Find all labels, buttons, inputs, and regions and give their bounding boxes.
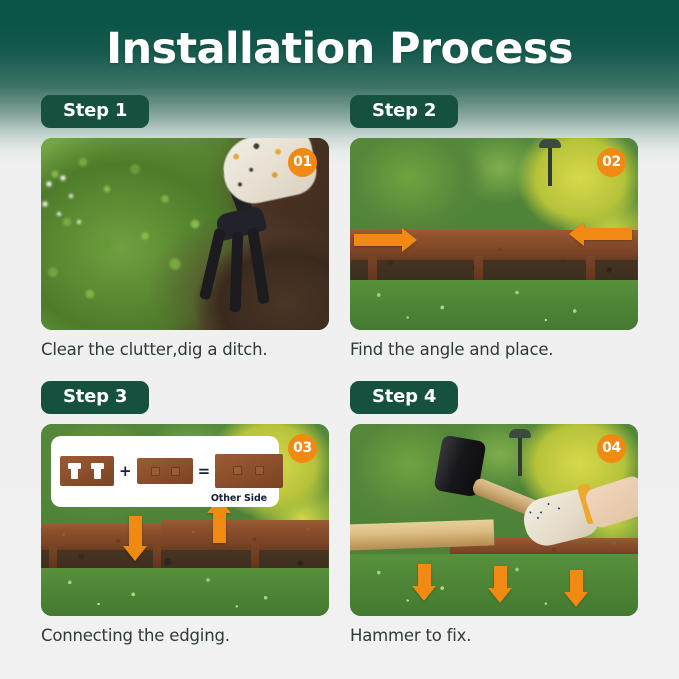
steps-grid: Step 1 01 Clear the clutter,dig a <box>41 95 639 645</box>
connection-diagram: + = Other Side <box>51 436 279 507</box>
arrow-down-icon <box>123 516 147 561</box>
steps-row-2: Step 3 <box>41 381 639 645</box>
garden-lamp-icon <box>518 436 522 476</box>
step-photo-1: 01 <box>41 138 329 330</box>
step-badge-1: Step 1 <box>41 95 149 128</box>
arrow-left-icon <box>569 224 632 244</box>
steps-row-1: Step 1 01 Clear the clutter,dig a <box>41 95 639 359</box>
diagram-equals-symbol: = <box>198 462 211 480</box>
step-caption-1: Clear the clutter,dig a ditch. <box>41 340 329 359</box>
other-side-label: Other Side <box>211 493 267 504</box>
step-number-badge-3: 03 <box>288 434 317 463</box>
step-number-badge-2: 02 <box>597 148 626 177</box>
diagram-panel-tabs <box>137 458 193 484</box>
diagram-plus-symbol: + <box>119 462 132 480</box>
diagram-panel-joined <box>215 454 283 488</box>
diagram-joined-tab-left <box>233 466 242 475</box>
installation-process-page: Installation Process Step 1 <box>0 0 679 679</box>
diagram-tab-right <box>171 467 180 476</box>
grass-band <box>41 568 329 616</box>
cultivator-tine-right <box>247 227 270 304</box>
step-card-3: Step 3 <box>41 381 329 645</box>
edging-panel-right <box>161 520 329 550</box>
cultivator-tine-left <box>199 227 226 300</box>
step-badge-4: Step 4 <box>350 381 458 414</box>
arrow-down-icon-2 <box>488 566 512 603</box>
step-photo-3: + = Other Side 03 <box>41 424 329 616</box>
white-flowers <box>41 174 99 244</box>
page-title: Installation Process <box>0 24 679 74</box>
step-photo-2: 02 <box>350 138 638 330</box>
arrow-right-icon <box>354 230 417 250</box>
step-photo-4: 04 <box>350 424 638 616</box>
step-card-4: Step 4 <box>350 381 638 645</box>
diagram-panel-slots <box>60 456 114 486</box>
cultivator-tine-middle <box>230 232 244 312</box>
diagram-tab-left <box>151 467 160 476</box>
diagram-slot-left <box>71 463 78 479</box>
hand-cultivator-icon <box>191 184 287 314</box>
diagram-slot-right <box>94 463 101 479</box>
diagram-joined-tab-right <box>255 466 264 475</box>
step-badge-2: Step 2 <box>350 95 458 128</box>
grass-band <box>350 280 638 330</box>
garden-lamp-icon <box>548 146 552 186</box>
step-number-badge-4: 04 <box>597 434 626 463</box>
step-badge-3: Step 3 <box>41 381 149 414</box>
step-card-1: Step 1 01 Clear the clutter,dig a <box>41 95 329 359</box>
step-card-2: Step 2 02 <box>350 95 638 359</box>
step-caption-2: Find the angle and place. <box>350 340 638 359</box>
step-number-badge-1: 01 <box>288 148 317 177</box>
step-caption-3: Connecting the edging. <box>41 626 329 645</box>
arrow-down-icon-3 <box>564 570 588 607</box>
wooden-board <box>350 519 494 550</box>
arrow-down-icon-1 <box>412 564 436 601</box>
step-caption-4: Hammer to fix. <box>350 626 638 645</box>
